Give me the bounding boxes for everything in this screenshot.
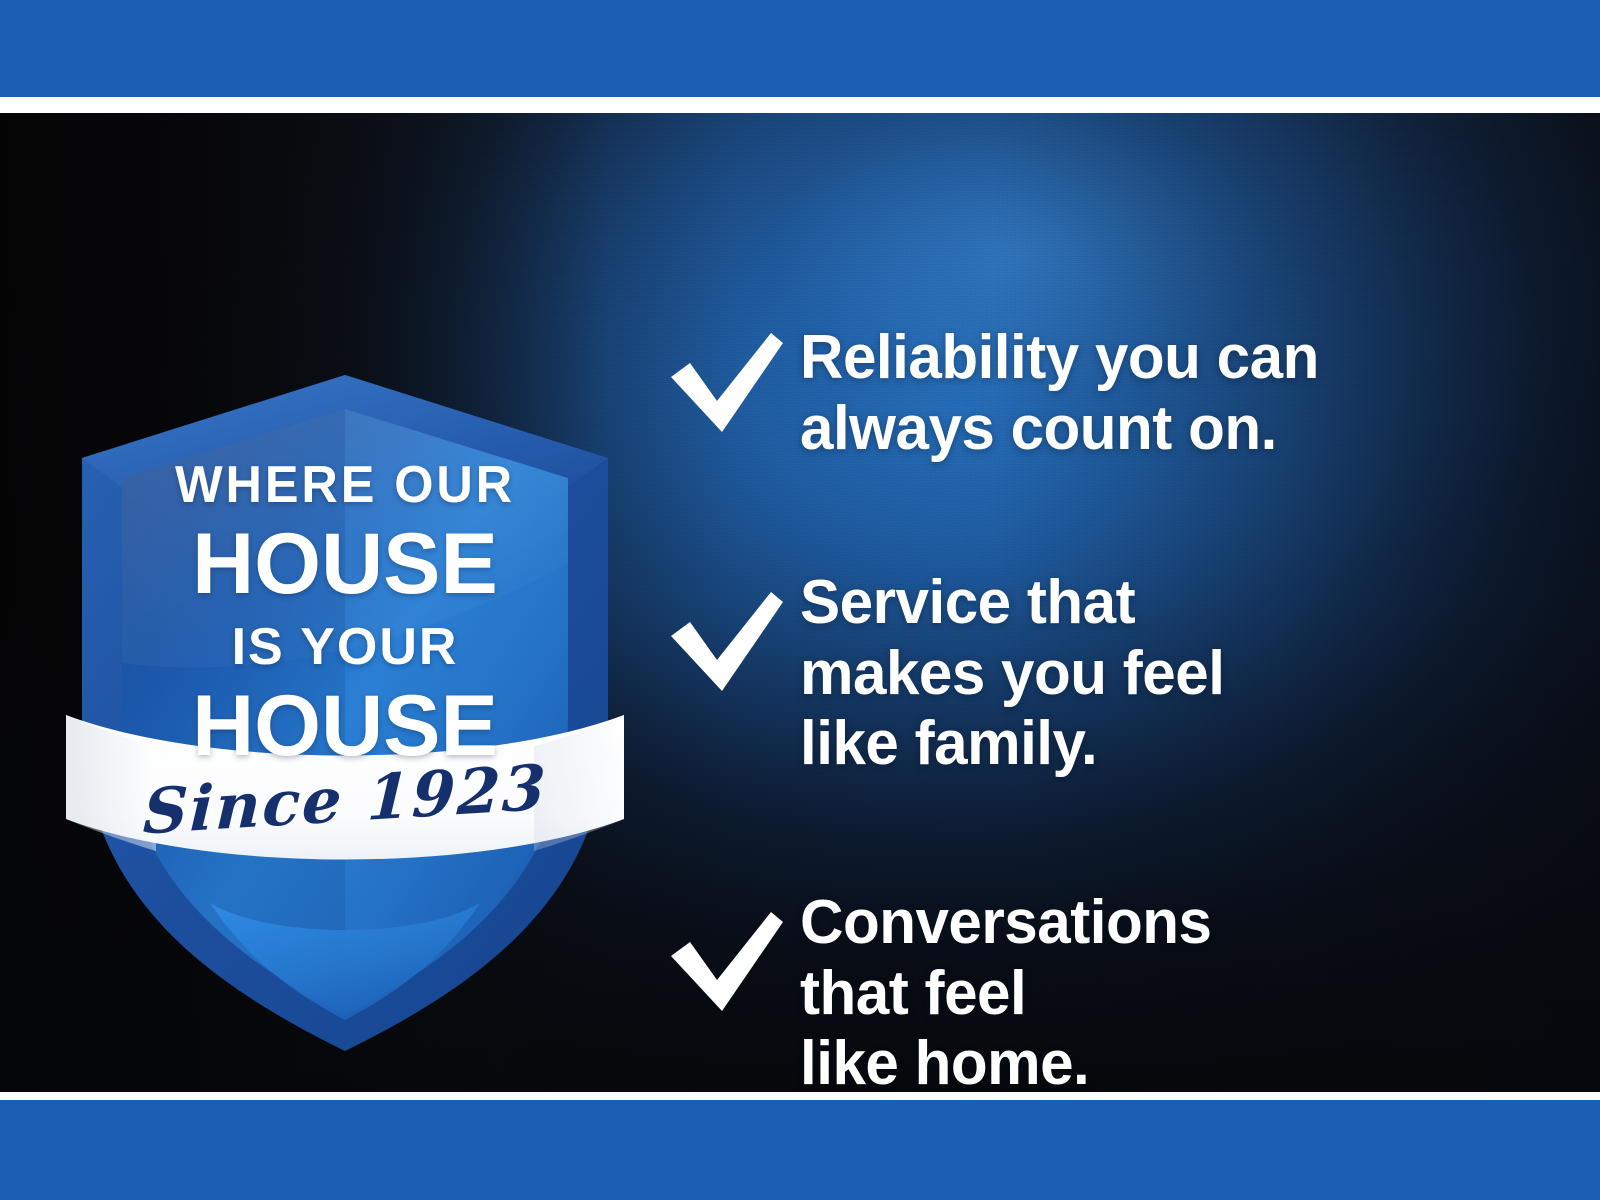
shield-emblem: WHERE OUR HOUSE IS YOUR HOUSE Since 1923 — [60, 263, 630, 1053]
top-brand-bar — [0, 0, 1600, 97]
checkmark-icon — [668, 888, 800, 1014]
list-item-text: Reliability you can always count on. — [800, 323, 1526, 464]
checkmark-icon — [668, 323, 800, 435]
main-content-panel: WHERE OUR HOUSE IS YOUR HOUSE Since 1923 — [0, 113, 1600, 1092]
promo-banner: WHERE OUR HOUSE IS YOUR HOUSE Since 1923 — [0, 0, 1600, 1200]
list-item: Reliability you can always count on. — [668, 323, 1548, 464]
list-item: Service that makes you feel like family. — [668, 568, 1548, 780]
bottom-brand-bar — [0, 1100, 1600, 1200]
list-item-text: Conversations that feel like home. — [800, 888, 1526, 1092]
list-item: Conversations that feel like home. — [668, 888, 1548, 1092]
checkmark-icon — [668, 568, 800, 694]
value-props-list: Reliability you can always count on. Ser… — [668, 268, 1548, 1092]
list-item-text: Service that makes you feel like family. — [800, 568, 1526, 780]
